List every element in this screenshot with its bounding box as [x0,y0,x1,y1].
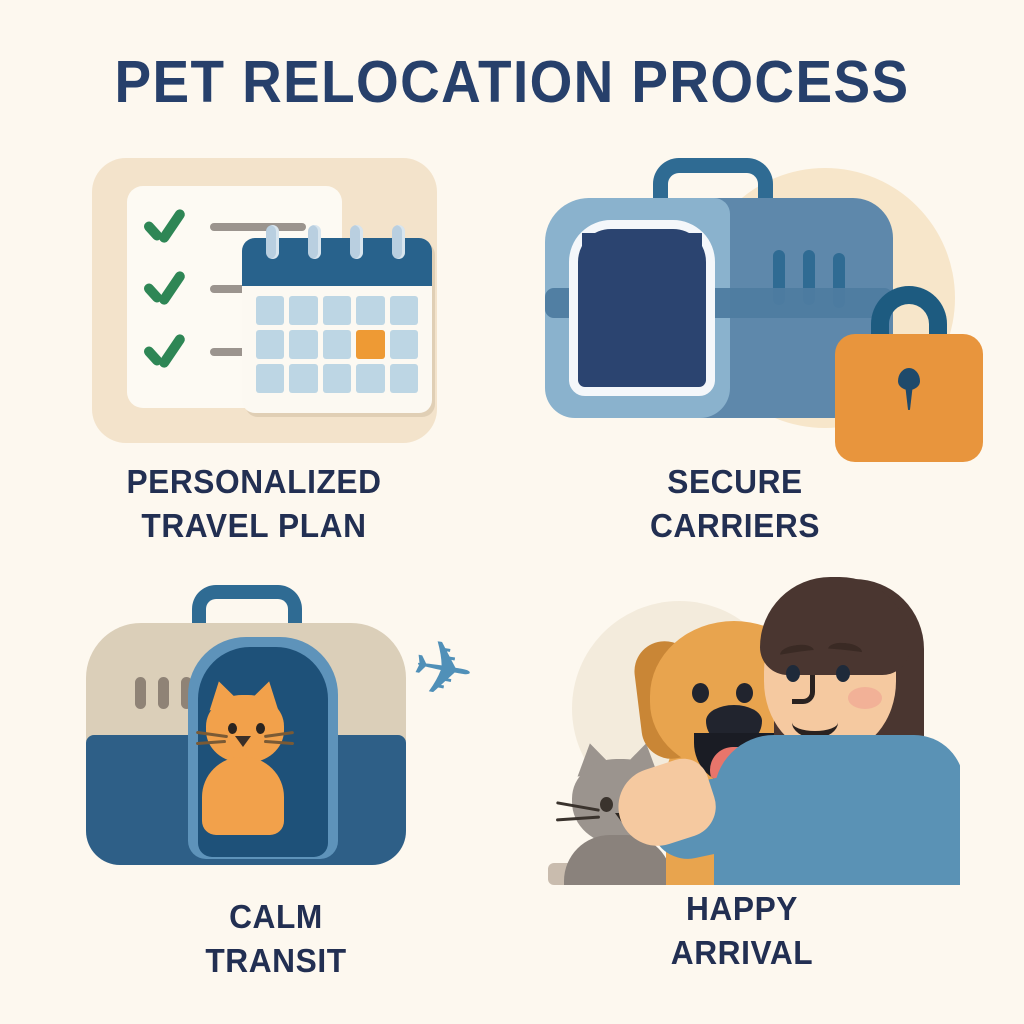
check-icon [140,265,186,311]
step-caption-line1: HAPPY [540,887,943,931]
calendar-day [323,330,351,359]
owner-eye [836,665,850,682]
carrier-vent-slot [135,677,146,709]
cat-eye [600,797,613,812]
step-card-calm-transit[interactable]: ✈ CALM TRANSIT [80,585,500,995]
padlock-icon [835,286,983,462]
check-icon [140,203,186,249]
owner-smile [792,707,838,738]
calendar-day-grid [256,296,418,393]
cat-head [206,695,284,763]
calendar-day [356,296,384,325]
step-card-happy-arrival[interactable]: HAPPY ARRIVAL [540,565,960,995]
step-caption: CALM TRANSIT [74,895,477,983]
step-caption-line1: CALM [74,895,477,939]
step-caption-line2: TRAVEL PLAN [85,504,423,548]
step-card-secure-carriers[interactable]: SECURE CARRIERS [545,158,945,558]
calendar-day [289,296,317,325]
cat-nose [235,736,251,747]
calendar-day [256,364,284,393]
calendar-ring-icon [266,225,279,259]
step-caption-line2: TRANSIT [74,939,477,983]
calendar-day [390,296,418,325]
dog-eye [692,683,709,703]
carrier-vent-slot [158,677,169,709]
calendar-day-highlighted [356,330,384,359]
step-caption: SECURE CARRIERS [543,460,927,548]
owner-nose [792,675,815,704]
calendar-day [390,330,418,359]
checklist-line [210,223,306,231]
calendar-ring-icon [350,225,363,259]
check-icon [140,328,186,374]
owner-blush [848,687,882,709]
infographic-canvas: PET RELOCATION PROCESS [0,0,1024,1024]
calendar-day [256,330,284,359]
calendar-ring-icon [308,225,321,259]
calendar-day [323,296,351,325]
cat-in-carrier-airplane-icon: ✈ [80,585,500,885]
cat-body [202,757,284,835]
carrier-door-grid [569,220,715,396]
step-caption-line1: SECURE [543,460,927,504]
page-title: PET RELOCATION PROCESS [36,48,988,116]
calendar-day [323,364,351,393]
calendar-day [256,296,284,325]
step-caption-line1: PERSONALIZED [85,460,423,504]
checklist-calendar-icon [92,158,437,443]
owner-reunited-with-pets-icon [540,565,960,885]
calendar-day [289,330,317,359]
padlock-keyhole-icon [898,368,920,390]
owner-illustration [736,567,960,885]
calendar-ring-icon [392,225,405,259]
airplane-icon: ✈ [406,628,480,712]
step-caption: HAPPY ARRIVAL [540,887,943,975]
step-caption-line2: ARRIVAL [540,931,943,975]
step-caption-line2: CARRIERS [543,504,927,548]
step-card-personalized-travel-plan[interactable]: PERSONALIZED TRAVEL PLAN [92,158,444,558]
cat-illustration [200,681,330,861]
cat-eye [256,723,265,734]
step-caption: PERSONALIZED TRAVEL PLAN [85,460,423,548]
calendar-day [356,364,384,393]
calendar-day [390,364,418,393]
calendar-day [289,364,317,393]
cat-eye [228,723,237,734]
calendar-icon [242,238,432,413]
locked-pet-carrier-icon [545,158,945,458]
